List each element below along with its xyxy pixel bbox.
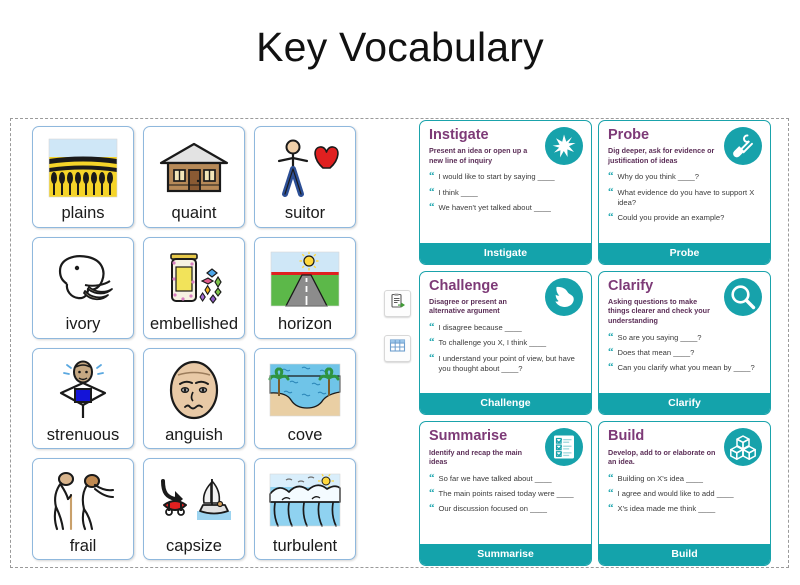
- vocab-card-label: frail: [70, 538, 97, 556]
- talk-move-body: Challenge Disagree or present an alterna…: [420, 272, 591, 394]
- vocab-card-label: turbulent: [273, 538, 337, 556]
- talk-move-footer-label: Probe: [599, 243, 770, 264]
- talk-move-card[interactable]: Build Develop, add to or elaborate on an…: [598, 421, 771, 566]
- cottage-house-icon: [146, 131, 242, 205]
- sentence-stem: “ Building on X's idea ____: [608, 474, 762, 484]
- starburst-icon: [545, 127, 583, 165]
- sentence-stem-list: “ I would like to start by saying ____ “…: [429, 172, 583, 213]
- sentence-stem-text: I think ____: [439, 188, 478, 198]
- page-title: Key Vocabulary: [0, 24, 800, 71]
- sentence-stem-text: I disagree because ____: [439, 323, 522, 333]
- checklist-icon: [545, 428, 583, 466]
- talk-move-header: Summarise Identify and recap the main id…: [429, 429, 583, 466]
- talk-move-body: Probe Dig deeper, ask for evidence or ju…: [599, 121, 770, 243]
- talk-move-subtitle: Asking questions to make things clearer …: [608, 297, 718, 326]
- vocab-card-label: capsize: [166, 538, 222, 556]
- sentence-stem-text: We haven't yet talked about ____: [439, 203, 551, 213]
- sentence-stem: “ I think ____: [429, 188, 583, 198]
- sentence-stem-text: X's idea made me think ____: [618, 504, 716, 514]
- talk-move-heading-group: Summarise Identify and recap the main id…: [429, 429, 543, 466]
- road-to-horizon-icon: [257, 242, 353, 316]
- talk-move-title: Instigate: [429, 128, 539, 143]
- person-with-heart-icon: [257, 131, 353, 205]
- stacked-cubes-icon: [724, 428, 762, 466]
- talk-move-header: Probe Dig deeper, ask for evidence or ju…: [608, 128, 762, 165]
- quote-icon: “: [429, 489, 435, 499]
- sentence-stem-list: “ Building on X's idea ____ “ I agree an…: [608, 474, 762, 515]
- vocab-card[interactable]: embellished: [143, 237, 245, 339]
- quote-icon: “: [608, 504, 614, 514]
- talk-move-footer-label: Challenge: [420, 393, 591, 414]
- talk-move-footer-label: Instigate: [420, 243, 591, 264]
- vocab-card-label: anguish: [165, 427, 223, 445]
- table-layout-button[interactable]: [384, 335, 411, 362]
- talk-move-body: Clarify Asking questions to make things …: [599, 272, 770, 394]
- talk-move-subtitle: Identify and recap the main ideas: [429, 448, 539, 467]
- rough-waves-icon: [257, 463, 353, 537]
- talk-move-heading-group: Challenge Disagree or present an alterna…: [429, 279, 543, 316]
- vocab-card-label: quaint: [172, 205, 217, 223]
- sentence-stem: “ X's idea made me think ____: [608, 504, 762, 514]
- sentence-stem-text: Can you clarify what you mean by ____?: [618, 363, 755, 373]
- vocab-card[interactable]: capsize: [143, 458, 245, 560]
- floating-toolbar: [384, 290, 412, 362]
- quote-icon: “: [429, 504, 435, 514]
- talk-move-card[interactable]: Probe Dig deeper, ask for evidence or ju…: [598, 120, 771, 265]
- vocab-card-label: ivory: [66, 316, 101, 334]
- vocab-card[interactable]: ivory: [32, 237, 134, 339]
- talk-move-title: Probe: [608, 128, 718, 143]
- sentence-stem-text: To challenge you X, I think ____: [439, 338, 547, 348]
- vocab-card[interactable]: strenuous: [32, 348, 134, 450]
- vocab-card-label: cove: [288, 427, 323, 445]
- talk-moves-panel: Instigate Present an idea or open up a n…: [419, 120, 771, 566]
- vocab-card-label: strenuous: [47, 427, 119, 445]
- quote-icon: “: [608, 474, 614, 484]
- sentence-stem-list: “ So far we have talked about ____ “ The…: [429, 474, 583, 515]
- sentence-stem: “ To challenge you X, I think ____: [429, 338, 583, 348]
- talk-move-body: Summarise Identify and recap the main id…: [420, 422, 591, 544]
- sentence-stem-text: So are you saying ____?: [618, 333, 702, 343]
- quote-icon: “: [429, 338, 435, 348]
- quote-icon: “: [429, 354, 435, 364]
- quote-icon: “: [608, 188, 614, 198]
- distressed-face-icon: [146, 353, 242, 427]
- talk-move-footer-label: Clarify: [599, 393, 770, 414]
- talk-move-title: Build: [608, 429, 718, 444]
- quote-icon: “: [429, 172, 435, 182]
- talk-move-title: Challenge: [429, 279, 539, 294]
- talk-move-footer-label: Summarise: [420, 544, 591, 565]
- shovel-icon: [724, 127, 762, 165]
- elderly-person-with-cane-icon: [35, 463, 131, 537]
- talk-move-header: Instigate Present an idea or open up a n…: [429, 128, 583, 165]
- magnifying-glass-icon: [724, 278, 762, 316]
- talk-move-title: Summarise: [429, 429, 539, 444]
- sentence-stem: “ Why do you think ____?: [608, 172, 762, 182]
- talk-move-heading-group: Probe Dig deeper, ask for evidence or ju…: [608, 128, 722, 165]
- talk-move-subtitle: Disagree or present an alternative argum…: [429, 297, 539, 316]
- sentence-stem: “ Does that mean ____?: [608, 348, 762, 358]
- sentence-stem: “ Our discussion focused on ____: [429, 504, 583, 514]
- talk-move-card[interactable]: Summarise Identify and recap the main id…: [419, 421, 592, 566]
- talk-move-heading-group: Clarify Asking questions to make things …: [608, 279, 722, 326]
- sheltered-bay-icon: [257, 353, 353, 427]
- talk-move-footer-label: Build: [599, 544, 770, 565]
- talk-move-subtitle: Dig deeper, ask for evidence or justific…: [608, 146, 718, 165]
- sentence-stem-text: I understand your point of view, but hav…: [439, 354, 584, 375]
- paste-options-button[interactable]: [384, 290, 411, 317]
- vocab-card-label: horizon: [278, 316, 332, 334]
- talk-move-header: Build Develop, add to or elaborate on an…: [608, 429, 762, 466]
- quote-icon: “: [429, 474, 435, 484]
- sentence-stem-text: The main points raised today were ____: [439, 489, 574, 499]
- sentence-stem: “ So are you saying ____?: [608, 333, 762, 343]
- sentence-stem-text: I would like to start by saying ____: [439, 172, 555, 182]
- quote-icon: “: [608, 348, 614, 358]
- sentence-stem-text: Building on X's idea ____: [618, 474, 703, 484]
- paste-icon: [389, 293, 406, 315]
- sentence-stem-list: “ Why do you think ____? “ What evidence…: [608, 172, 762, 223]
- vocab-card[interactable]: cove: [254, 348, 356, 450]
- sentence-stem-text: What evidence do you have to support X i…: [618, 188, 763, 209]
- decorated-jar-icon: [146, 242, 242, 316]
- plains-field-icon: [35, 131, 131, 205]
- vocab-card-label: suitor: [285, 205, 325, 223]
- vocab-card[interactable]: anguish: [143, 348, 245, 450]
- overturning-boat-icon: [146, 463, 242, 537]
- flexed-bicep-icon: [545, 278, 583, 316]
- talk-move-card[interactable]: Challenge Disagree or present an alterna…: [419, 271, 592, 416]
- talk-move-body: Build Develop, add to or elaborate on an…: [599, 422, 770, 544]
- sentence-stem-text: So far we have talked about ____: [439, 474, 552, 484]
- talk-move-body: Instigate Present an idea or open up a n…: [420, 121, 591, 243]
- talk-move-header: Clarify Asking questions to make things …: [608, 279, 762, 326]
- talk-move-heading-group: Instigate Present an idea or open up a n…: [429, 128, 543, 165]
- talk-move-subtitle: Present an idea or open up a new line of…: [429, 146, 539, 165]
- elephant-tusks-icon: [35, 242, 131, 316]
- vocab-card[interactable]: suitor: [254, 126, 356, 228]
- quote-icon: “: [608, 333, 614, 343]
- vocab-card[interactable]: plains: [32, 126, 134, 228]
- talk-move-card[interactable]: Instigate Present an idea or open up a n…: [419, 120, 592, 265]
- quote-icon: “: [608, 363, 614, 373]
- vocab-card[interactable]: turbulent: [254, 458, 356, 560]
- sentence-stem: “ We haven't yet talked about ____: [429, 203, 583, 213]
- vocab-card[interactable]: frail: [32, 458, 134, 560]
- sentence-stem-text: Could you provide an example?: [618, 213, 725, 223]
- sentence-stem: “ The main points raised today were ____: [429, 489, 583, 499]
- quote-icon: “: [608, 489, 614, 499]
- sentence-stem: “ What evidence do you have to support X…: [608, 188, 762, 209]
- talk-move-title: Clarify: [608, 279, 718, 294]
- vocab-card[interactable]: quaint: [143, 126, 245, 228]
- quote-icon: “: [429, 188, 435, 198]
- talk-move-subtitle: Develop, add to or elaborate on an idea.: [608, 448, 718, 467]
- sentence-stem-text: Why do you think ____?: [618, 172, 699, 182]
- sentence-stem: “ I understand your point of view, but h…: [429, 354, 583, 375]
- quote-icon: “: [429, 323, 435, 333]
- sentence-stem-list: “ I disagree because ____ “ To challenge…: [429, 323, 583, 374]
- table-icon: [389, 338, 406, 359]
- sentence-stem: “ Can you clarify what you mean by ____?: [608, 363, 762, 373]
- sentence-stem: “ I disagree because ____: [429, 323, 583, 333]
- sentence-stem-text: I agree and would like to add ____: [618, 489, 734, 499]
- sentence-stem-text: Does that mean ____?: [618, 348, 695, 358]
- talk-move-header: Challenge Disagree or present an alterna…: [429, 279, 583, 316]
- quote-icon: “: [429, 203, 435, 213]
- talk-move-heading-group: Build Develop, add to or elaborate on an…: [608, 429, 722, 466]
- sentence-stem-list: “ So are you saying ____? “ Does that me…: [608, 333, 762, 374]
- quote-icon: “: [608, 213, 614, 223]
- vocab-card-label: embellished: [150, 316, 238, 334]
- sentence-stem-text: Our discussion focused on ____: [439, 504, 548, 514]
- sentence-stem: “ I agree and would like to add ____: [608, 489, 762, 499]
- vocab-card-label: plains: [61, 205, 104, 223]
- person-lifting-weight-icon: [35, 353, 131, 427]
- vocab-card[interactable]: horizon: [254, 237, 356, 339]
- talk-move-card[interactable]: Clarify Asking questions to make things …: [598, 271, 771, 416]
- sentence-stem: “ I would like to start by saying ____: [429, 172, 583, 182]
- sentence-stem: “ So far we have talked about ____: [429, 474, 583, 484]
- sentence-stem: “ Could you provide an example?: [608, 213, 762, 223]
- vocabulary-grid: plains quaint suitor: [32, 126, 356, 560]
- quote-icon: “: [608, 172, 614, 182]
